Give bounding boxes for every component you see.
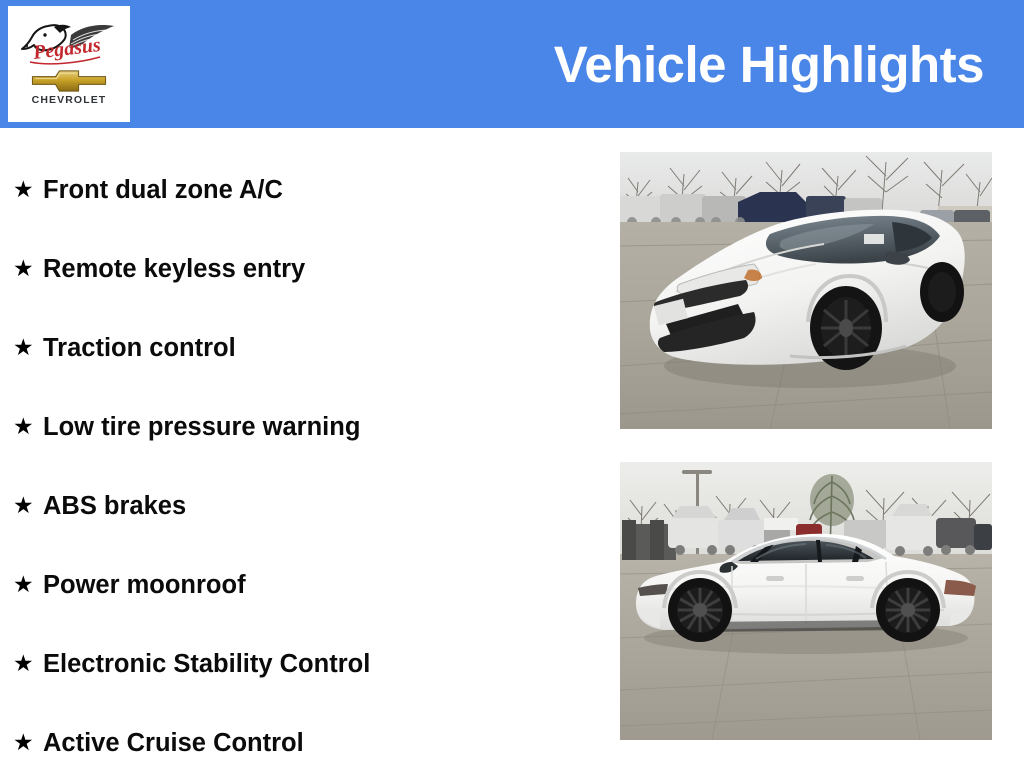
star-bullet-icon: ★ <box>13 336 43 359</box>
vehicle-photo-front-three-quarter[interactable] <box>620 152 992 429</box>
chevrolet-bowtie-icon <box>30 68 108 94</box>
star-bullet-icon: ★ <box>13 178 43 201</box>
star-bullet-icon: ★ <box>13 652 43 675</box>
list-item-label: Traction control <box>43 333 236 363</box>
photo-artwork <box>620 462 992 740</box>
list-item: ★ Traction control <box>0 308 600 387</box>
star-bullet-icon: ★ <box>13 494 43 517</box>
list-item-label: Low tire pressure warning <box>43 412 360 442</box>
page-title: Vehicle Highlights <box>554 36 984 94</box>
photo-artwork <box>620 152 992 429</box>
dealership-logo[interactable]: Pegasus CHEVROLET <box>8 6 130 122</box>
chevrolet-wordmark: CHEVROLET <box>8 94 130 106</box>
vehicle-features-list: ★ Front dual zone A/C ★ Remote keyless e… <box>0 138 600 762</box>
vehicle-photo-side-profile[interactable] <box>620 462 992 740</box>
list-item: ★ ABS brakes <box>0 466 600 545</box>
logo-artwork: Pegasus CHEVROLET <box>8 6 130 122</box>
list-item-label: Power moonroof <box>43 570 246 600</box>
list-item: ★ Low tire pressure warning <box>0 387 600 466</box>
star-bullet-icon: ★ <box>13 257 43 280</box>
star-bullet-icon: ★ <box>13 731 43 754</box>
list-item: ★ Remote keyless entry <box>0 229 600 308</box>
list-item: ★ Front dual zone A/C <box>0 150 600 229</box>
list-item: ★ Power moonroof <box>0 545 600 624</box>
star-bullet-icon: ★ <box>13 573 43 596</box>
list-item-label: Remote keyless entry <box>43 254 305 284</box>
star-bullet-icon: ★ <box>13 415 43 438</box>
list-item-label: ABS brakes <box>43 491 186 521</box>
list-item: ★ Active Cruise Control <box>0 703 600 768</box>
pegasus-winged-horse-icon: Pegasus <box>19 20 119 68</box>
header-bar: Pegasus CHEVROLET <box>0 0 1024 128</box>
list-item-label: Electronic Stability Control <box>43 649 370 679</box>
list-item: ★ Electronic Stability Control <box>0 624 600 703</box>
list-item-label: Active Cruise Control <box>43 728 304 758</box>
vehicle-highlights-slide: Pegasus CHEVROLET <box>0 0 1024 768</box>
list-item-label: Front dual zone A/C <box>43 175 283 205</box>
